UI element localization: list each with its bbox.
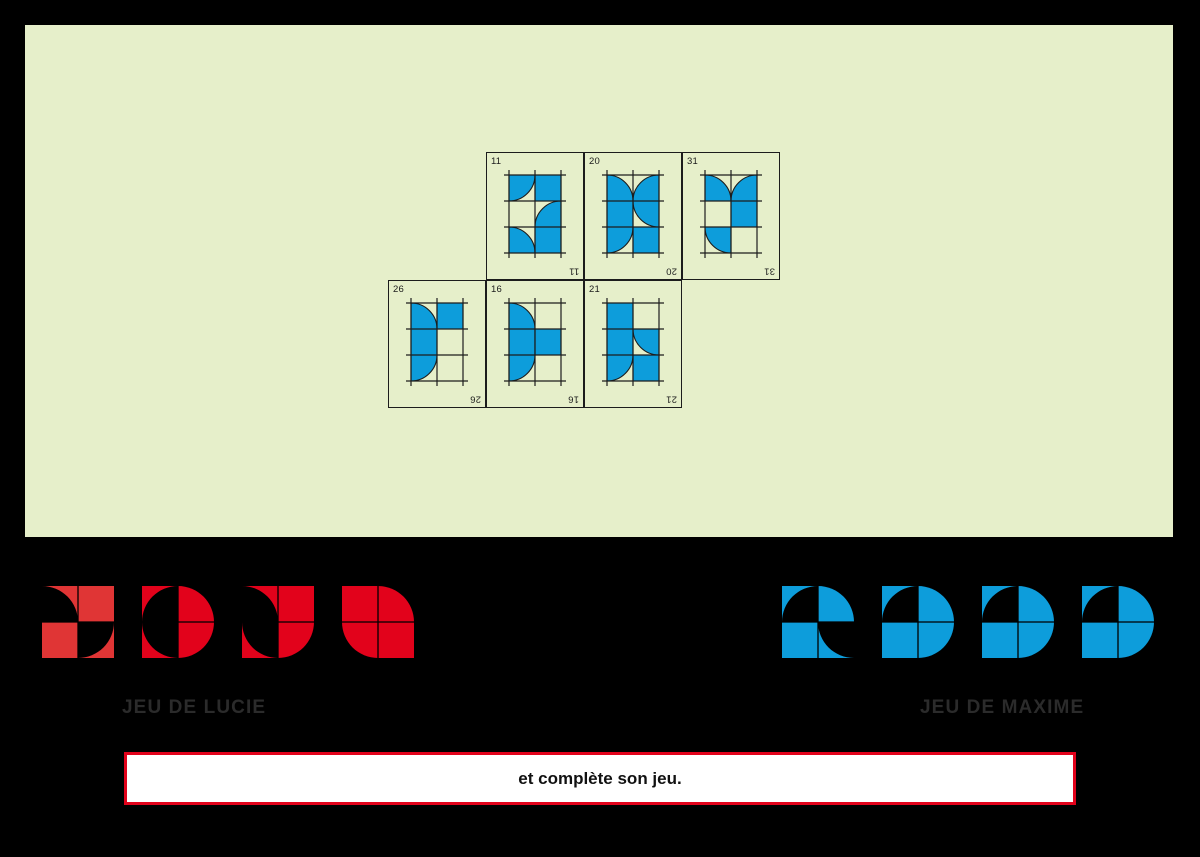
- game-label-maxime: JEU DE MAXIME: [920, 697, 1084, 719]
- card-16[interactable]: 1616: [486, 280, 584, 408]
- card-16-figure: [487, 281, 585, 409]
- card-20-number-topleft: 20: [589, 157, 600, 167]
- card-21-number-bottomright: 21: [666, 394, 677, 404]
- card-31-figure: [683, 153, 781, 281]
- card-board: 111120203131262616162121: [388, 152, 788, 408]
- card-26-number-topleft: 26: [393, 285, 404, 295]
- lucie-piece-3[interactable]: [230, 572, 322, 680]
- maxime-piece-4-figure: [1070, 572, 1162, 680]
- card-31[interactable]: 3131: [682, 152, 780, 280]
- lucie-piece-2-figure: [130, 572, 222, 680]
- lucie-pieces-row: [30, 572, 430, 680]
- card-31-number-bottomright: 31: [764, 266, 775, 276]
- game-label-lucie: JEU DE LUCIE: [122, 697, 266, 719]
- card-20-figure: [585, 153, 683, 281]
- maxime-piece-1[interactable]: [770, 572, 862, 680]
- card-21-number-topleft: 21: [589, 285, 600, 295]
- card-26-number-bottomright: 26: [470, 394, 481, 404]
- card-26[interactable]: 2626: [388, 280, 486, 408]
- card-16-number-topleft: 16: [491, 285, 502, 295]
- lucie-piece-1-figure: [30, 572, 122, 680]
- lucie-piece-2[interactable]: [130, 572, 222, 680]
- card-11-number-topleft: 11: [491, 157, 501, 167]
- maxime-piece-2[interactable]: [870, 572, 962, 680]
- maxime-piece-3[interactable]: [970, 572, 1062, 680]
- maxime-pieces-row: [770, 572, 1170, 680]
- instruction-box: et complète son jeu.: [124, 752, 1076, 805]
- card-11-figure: [487, 153, 585, 281]
- card-21[interactable]: 2121: [584, 280, 682, 408]
- lucie-piece-1[interactable]: [30, 572, 122, 680]
- lucie-piece-4-figure: [330, 572, 422, 680]
- card-11[interactable]: 1111: [486, 152, 584, 280]
- maxime-piece-1-figure: [770, 572, 862, 680]
- card-20-number-bottomright: 20: [666, 266, 677, 276]
- card-20[interactable]: 2020: [584, 152, 682, 280]
- maxime-piece-3-figure: [970, 572, 1062, 680]
- card-21-figure: [585, 281, 683, 409]
- lucie-piece-4[interactable]: [330, 572, 422, 680]
- card-11-number-bottomright: 11: [569, 266, 579, 276]
- instruction-text: et complète son jeu.: [518, 769, 681, 789]
- maxime-piece-4[interactable]: [1070, 572, 1162, 680]
- screen-root: 111120203131262616162121 JEU DE LUCIE JE…: [0, 0, 1200, 857]
- card-26-figure: [389, 281, 487, 409]
- card-16-number-bottomright: 16: [568, 394, 579, 404]
- card-31-number-topleft: 31: [687, 157, 698, 167]
- lucie-piece-3-figure: [230, 572, 322, 680]
- maxime-piece-2-figure: [870, 572, 962, 680]
